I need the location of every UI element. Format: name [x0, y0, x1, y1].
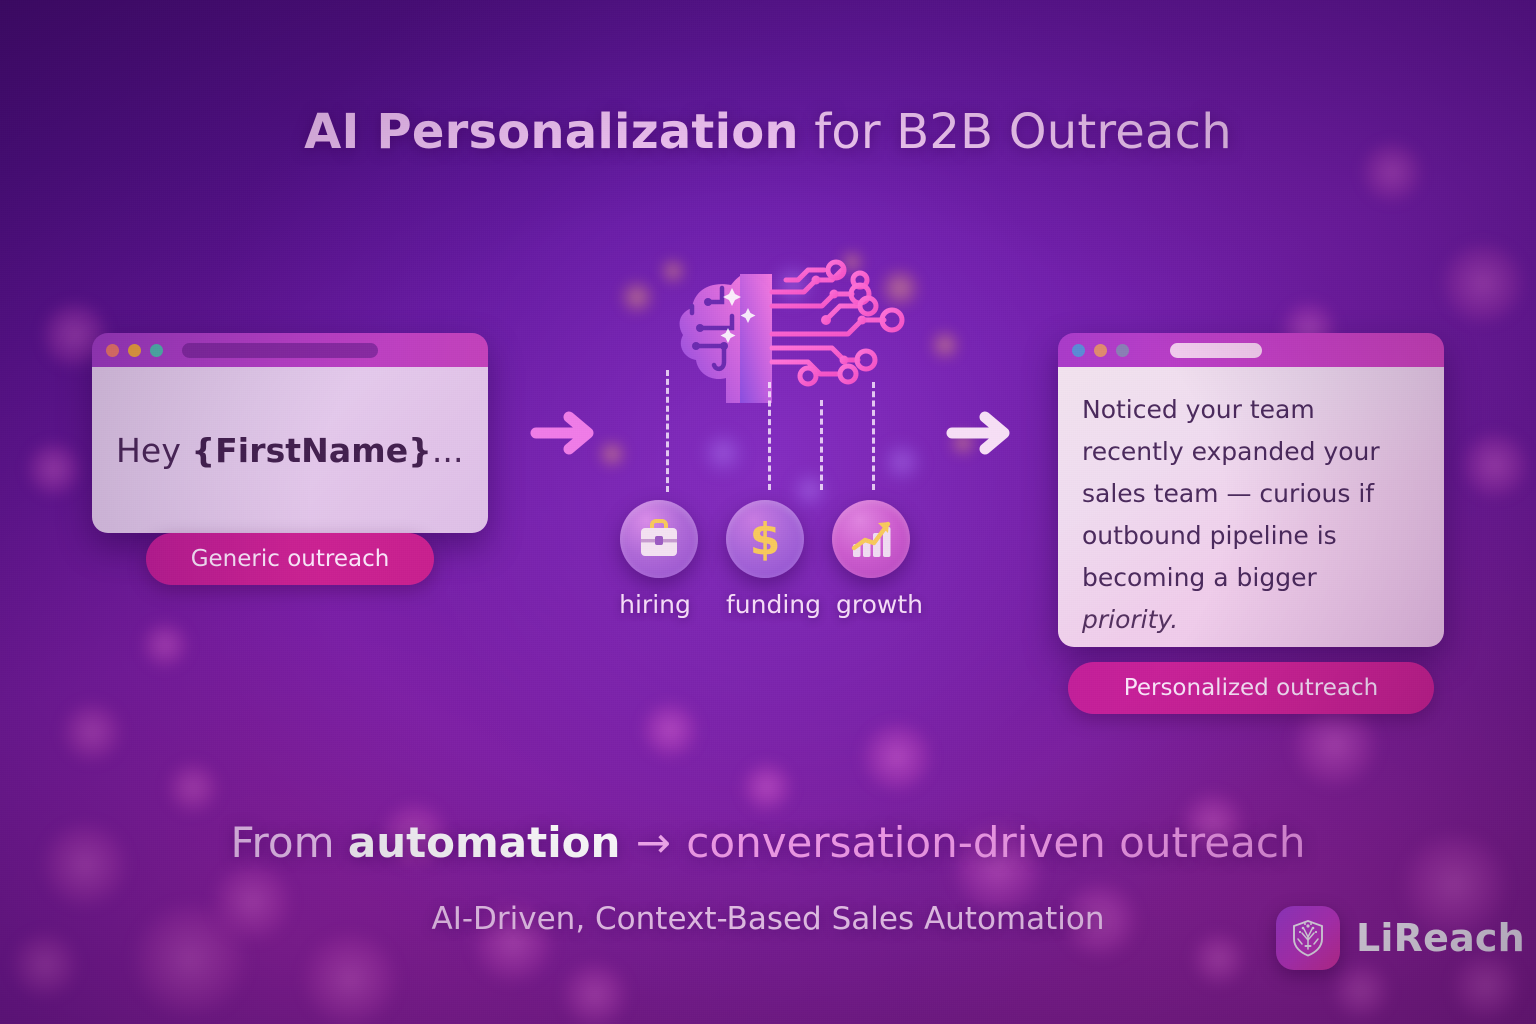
window-dot-teal[interactable]: [150, 344, 163, 357]
page-title: AI Personalization for B2B Outreach: [0, 104, 1536, 160]
page-title-strong: AI Personalization: [304, 104, 799, 160]
arrow-brain-to-personalized: [944, 405, 1018, 465]
generic-message-text: Hey {FirstName}...: [116, 431, 464, 470]
signal-funding[interactable]: $ funding: [726, 500, 821, 619]
window-dot-blue[interactable]: [1072, 344, 1085, 357]
briefcase-icon: [635, 517, 683, 561]
tagline-arrow-icon: →: [620, 818, 686, 867]
personalized-card-body: Noticed your team recently expanded your…: [1058, 367, 1444, 647]
generic-message-prefix: Hey: [116, 431, 192, 470]
lireach-shield-logo: [1287, 917, 1329, 959]
generic-message-card[interactable]: Hey {FirstName}...: [92, 333, 488, 533]
signal-funding-label: funding: [726, 590, 821, 619]
lireach-wordmark: LiReach: [1356, 916, 1525, 960]
growth-chart-icon: [847, 516, 895, 562]
personalized-message-text: Noticed your team recently expanded your…: [1082, 389, 1420, 641]
svg-text:$: $: [750, 514, 781, 564]
connector-dash-2: [768, 382, 771, 490]
personalized-card-titlebar: [1058, 333, 1444, 367]
generic-message-token: {FirstName}: [192, 431, 432, 470]
generic-card-body: Hey {FirstName}...: [92, 367, 488, 533]
personalized-message-plain: Noticed your team recently expanded your…: [1082, 395, 1380, 592]
tagline: From automation → conversation-driven ou…: [0, 818, 1536, 867]
personalized-card-addressbar: [1170, 343, 1262, 358]
infographic-canvas: AI Personalization for B2B Outreach Hey …: [0, 0, 1536, 1024]
window-dot-amber[interactable]: [128, 344, 141, 357]
signal-hiring-circle: [620, 500, 698, 578]
generic-outreach-pill-label: Generic outreach: [191, 546, 390, 572]
generic-outreach-pill: Generic outreach: [146, 533, 434, 585]
lireach-logo[interactable]: LiReach: [1276, 906, 1525, 970]
ai-brain-circuit-icon: [636, 258, 936, 403]
lireach-badge: [1276, 906, 1340, 970]
personalized-outreach-pill-label: Personalized outreach: [1124, 675, 1378, 701]
page-title-light: for B2B Outreach: [799, 104, 1232, 160]
arrow-generic-to-brain: [528, 405, 602, 465]
personalized-message-card[interactable]: Noticed your team recently expanded your…: [1058, 333, 1444, 647]
signal-hiring[interactable]: hiring: [620, 500, 698, 619]
window-dot-grey[interactable]: [1116, 344, 1129, 357]
tagline-automation: automation: [348, 818, 621, 867]
signal-hiring-label: hiring: [612, 590, 698, 619]
arrow-right-icon: [528, 405, 602, 461]
connector-dash-1: [666, 370, 669, 492]
ai-brain-graphic: [636, 258, 936, 398]
generic-card-titlebar: [92, 333, 488, 367]
signal-growth-circle: [832, 500, 910, 578]
tagline-from: From: [230, 818, 347, 867]
signal-growth-label: growth: [836, 590, 923, 619]
generic-card-addressbar: [182, 343, 378, 358]
window-dot-red[interactable]: [106, 344, 119, 357]
personalized-outreach-pill: Personalized outreach: [1068, 662, 1434, 714]
connector-dash-4: [872, 382, 875, 490]
connector-dash-3: [820, 400, 823, 490]
arrow-right-icon: [944, 405, 1018, 461]
window-dot-coral[interactable]: [1094, 344, 1107, 357]
signal-funding-circle: $: [726, 500, 804, 578]
signal-growth[interactable]: growth: [832, 500, 923, 619]
personalized-message-italic: priority.: [1082, 605, 1178, 634]
generic-message-suffix: ...: [432, 431, 464, 470]
dollar-sign-icon: $: [744, 514, 786, 564]
tagline-rest: conversation-driven outreach: [686, 818, 1305, 867]
